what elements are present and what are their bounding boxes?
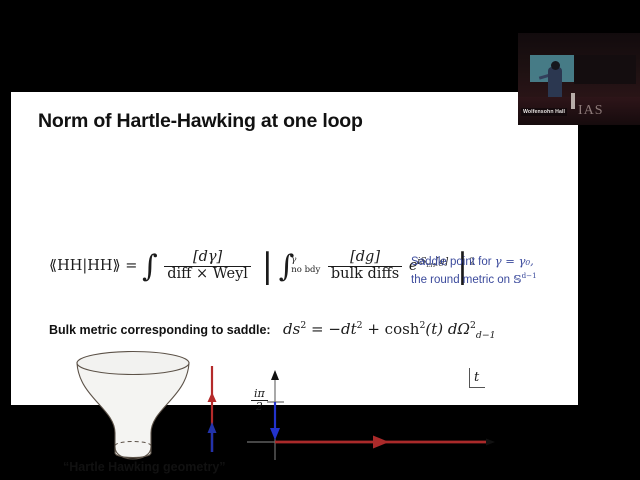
saddle-point-annotation: Saddle point for γ = γ₀, the round metri… — [411, 253, 537, 288]
modulus-bar-left: | — [262, 256, 273, 277]
metric-term3-sub: d−1 — [476, 330, 496, 341]
funnel-body — [77, 363, 189, 458]
outer-denominator: diff × Weyl — [164, 266, 251, 283]
page-title: Norm of Hartle-Hawking at one loop — [38, 110, 363, 133]
inner-measure-fraction: [dg] bulk diffs — [328, 250, 402, 282]
inner-numerator: [dg] — [328, 250, 402, 266]
saddle-note-line1-math: γ = γ₀, — [495, 254, 534, 268]
bulk-metric-equation: ds2 = −dt2 + cosh2(t) dΩ2d−1 — [283, 320, 496, 338]
inner-denominator: bulk diffs — [328, 266, 402, 283]
equation-equals: = — [125, 258, 137, 274]
speaker-head — [551, 61, 560, 70]
bulk-metric-label: Bulk metric corresponding to saddle: — [49, 323, 271, 337]
real-axis-arrowhead — [486, 439, 495, 446]
outer-numerator: [dγ] — [164, 250, 251, 266]
sphere-dimension: d−1 — [522, 271, 537, 280]
hartle-hawking-funnel-diagram — [63, 347, 203, 472]
metric-term2: cosh — [385, 320, 420, 338]
outer-integral-symbol: ∫ — [142, 256, 158, 277]
saddle-note-line2-text: the round metric on — [411, 274, 513, 286]
saddle-note-line1: Saddle point for γ = γ₀, — [411, 253, 537, 271]
red-contour-arrowhead — [373, 436, 389, 449]
imaginary-axis-arrowhead — [271, 370, 279, 380]
outer-measure-fraction: [dγ] diff × Weyl — [164, 250, 251, 282]
bulk-metric-line: Bulk metric corresponding to saddle: ds2… — [49, 320, 496, 341]
metric-term3: dΩ — [448, 320, 470, 338]
metric-term2-arg: (t) — [425, 320, 443, 338]
presentation-slide: Norm of Hartle-Hawking at one loop ⟪HH|H… — [11, 92, 578, 405]
speaker-body — [548, 67, 562, 97]
stage-dark-panel — [574, 55, 636, 84]
metric-term1-power: 2 — [357, 320, 363, 331]
blue-contour-arrowhead — [270, 428, 280, 440]
sphere-symbol: 𝕊 — [513, 272, 521, 286]
saddle-note-line2: the round metric on 𝕊d−1 — [411, 271, 537, 289]
ipi-numerator: iπ — [251, 388, 268, 400]
metric-lhs-power: 2 — [300, 320, 306, 331]
metric-term1: −dt — [328, 320, 356, 338]
inner-lower-limit: no bdy — [291, 266, 320, 276]
speaker-video-overlay[interactable]: IAS Wolfensohn Hall — [518, 33, 640, 125]
metric-plus: + — [367, 320, 380, 338]
vertical-time-contour-arrows — [197, 364, 227, 454]
t-variable: t — [474, 370, 479, 385]
ias-logo: IAS — [578, 103, 604, 119]
ipi-denominator: 2 — [251, 400, 268, 413]
complex-plane-label: t — [469, 368, 485, 388]
ipi-over-2-fraction: iπ 2 — [251, 388, 268, 413]
ias-banner-pole — [571, 93, 575, 109]
video-stage: Norm of Hartle-Hawking at one loop ⟪HH|H… — [0, 0, 640, 480]
funnel-top-rim — [77, 352, 189, 375]
inner-integral-limits: γno bdy — [291, 256, 320, 276]
metric-equals: = — [311, 320, 324, 338]
red-arrowhead — [208, 392, 217, 402]
imaginary-tick-label: iπ 2 — [249, 388, 270, 413]
complex-time-contour-plot — [243, 364, 498, 468]
equation-lhs: ⟪HH|HH⟫ — [49, 258, 121, 274]
metric-lhs: ds — [283, 320, 300, 338]
saddle-note-line1-text: Saddle point for — [411, 256, 495, 268]
funnel-caption: “Hartle Hawking geometry” — [63, 460, 226, 474]
blue-arrowhead — [208, 422, 217, 433]
venue-caption: Wolfensohn Hall — [521, 108, 567, 116]
